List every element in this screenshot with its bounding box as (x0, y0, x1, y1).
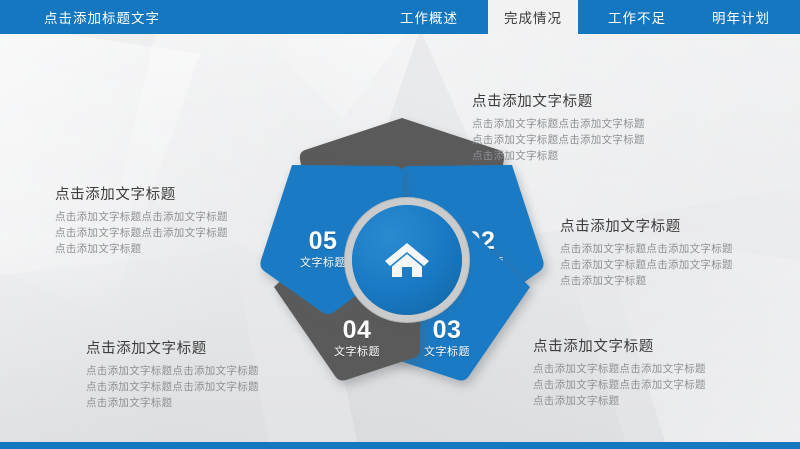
text-block-05-line: 点击添加文字标题点击添加文字标题 (55, 210, 228, 226)
text-block-02-line: 点击添加文字标题点击添加文字标题 (560, 242, 733, 258)
text-block-01-line: 点击添加文字标题点击添加文字标题 (472, 133, 645, 149)
tab-work-shortcomings[interactable]: 工作不足 (592, 0, 682, 34)
slide-canvas: 点击添加标题文字 工作概述 完成情况 工作不足 明年计划 01 文字标题 (0, 0, 800, 449)
text-block-04-line: 点击添加文字标题点击添加文字标题 (86, 364, 259, 380)
text-block-05-line: 点击添加文字标题点击添加文字标题 (55, 226, 228, 242)
tab-completion-status[interactable]: 完成情况 (488, 0, 578, 34)
text-block-05-title: 点击添加文字标题 (55, 183, 228, 204)
nav-tabs: 工作概述 完成情况 工作不足 明年计划 (384, 0, 800, 34)
top-navigation-bar: 点击添加标题文字 工作概述 完成情况 工作不足 明年计划 (0, 0, 800, 34)
text-block-01-title: 点击添加文字标题 (472, 90, 645, 111)
text-block-03-line: 点击添加文字标题点击添加文字标题 (533, 362, 706, 378)
home-icon (384, 240, 430, 280)
text-block-05-line: 点击添加文字标题 (55, 242, 228, 258)
text-block-03-title: 点击添加文字标题 (533, 335, 706, 356)
text-block-04: 点击添加文字标题 点击添加文字标题点击添加文字标题 点击添加文字标题点击添加文字… (86, 337, 259, 412)
text-block-02: 点击添加文字标题 点击添加文字标题点击添加文字标题 点击添加文字标题点击添加文字… (560, 215, 733, 290)
tab-next-year-plan[interactable]: 明年计划 (696, 0, 786, 34)
text-block-03: 点击添加文字标题 点击添加文字标题点击添加文字标题 点击添加文字标题点击添加文字… (533, 335, 706, 410)
slide-title: 点击添加标题文字 (0, 0, 160, 34)
tab-spacer (682, 0, 696, 34)
tab-spacer (578, 0, 592, 34)
text-block-01: 点击添加文字标题 点击添加文字标题点击添加文字标题 点击添加文字标题点击添加文字… (472, 90, 645, 165)
background-facet (0, 18, 200, 318)
tab-work-overview[interactable]: 工作概述 (384, 0, 474, 34)
tab-spacer (474, 0, 488, 34)
tab-spacer (786, 0, 800, 34)
text-block-02-line: 点击添加文字标题 (560, 274, 733, 290)
text-block-04-title: 点击添加文字标题 (86, 337, 259, 358)
text-block-04-line: 点击添加文字标题点击添加文字标题 (86, 380, 259, 396)
text-block-01-line: 点击添加文字标题点击添加文字标题 (472, 117, 645, 133)
text-block-03-line: 点击添加文字标题 (533, 394, 706, 410)
text-block-02-title: 点击添加文字标题 (560, 215, 733, 236)
text-block-03-line: 点击添加文字标题点击添加文字标题 (533, 378, 706, 394)
text-block-05: 点击添加文字标题 点击添加文字标题点击添加文字标题 点击添加文字标题点击添加文字… (55, 183, 228, 258)
text-block-02-line: 点击添加文字标题点击添加文字标题 (560, 258, 733, 274)
text-block-04-line: 点击添加文字标题 (86, 396, 259, 412)
center-hub[interactable] (352, 205, 462, 315)
text-block-01-line: 点击添加文字标题 (472, 149, 645, 165)
bottom-accent-bar (0, 442, 800, 449)
